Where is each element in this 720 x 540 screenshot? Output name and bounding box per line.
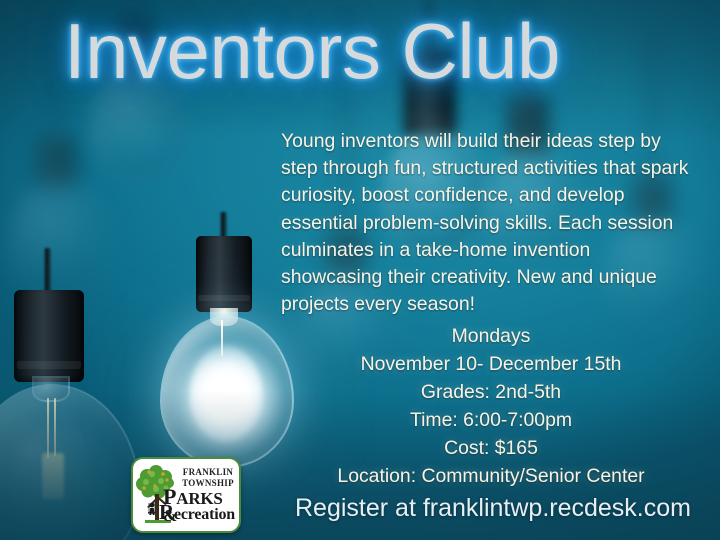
program-details-list: Mondays November 10- December 15th Grade… <box>281 322 701 490</box>
flyer-poster: Inventors Club Young inventors will buil… <box>0 0 720 540</box>
logo-line-township: TOWNSHIP <box>182 478 234 488</box>
logo-recreation-rest: ecreation <box>174 506 235 523</box>
detail-grades: Grades: 2nd-5th <box>281 378 701 406</box>
detail-day: Mondays <box>281 322 701 350</box>
page-title: Inventors Club <box>64 8 560 95</box>
logo-recreation-text: Recreation <box>159 504 235 523</box>
logo-township-text: FRANKLIN TOWNSHIP <box>179 467 237 488</box>
registration-link-text[interactable]: Register at franklintwp.recdesk.com <box>295 494 691 523</box>
description-paragraph: Young inventors will build their ideas s… <box>281 128 693 318</box>
logo-recreation-dropcap: R <box>159 500 174 524</box>
detail-location: Location: Community/Senior Center <box>281 462 701 490</box>
logo-line-franklin: FRANKLIN <box>183 467 233 477</box>
detail-dates: November 10- December 15th <box>281 350 701 378</box>
franklin-township-parks-recreation-logo: FRANKLIN TOWNSHIP PARKS & Recreation <box>131 457 241 533</box>
detail-time: Time: 6:00-7:00pm <box>281 406 701 434</box>
detail-cost: Cost: $165 <box>281 434 701 462</box>
